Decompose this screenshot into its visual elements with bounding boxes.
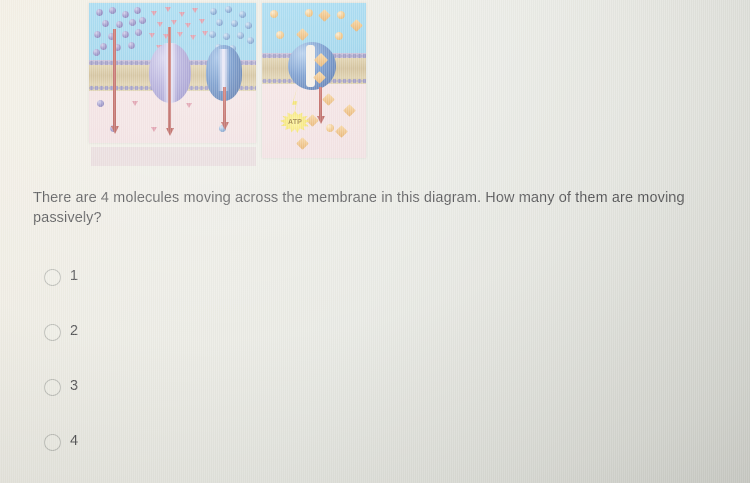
option-label-2: 2 xyxy=(70,323,78,340)
active-transport-panel: ATP xyxy=(262,3,366,158)
diffusion-arrow-channel xyxy=(168,27,171,129)
answer-options-list: 1 2 3 4 xyxy=(44,268,344,483)
diffusion-arrow-gated xyxy=(223,87,226,123)
option-label-3: 3 xyxy=(70,378,78,395)
pump-channel xyxy=(306,45,315,87)
option-2[interactable]: 2 xyxy=(44,323,344,378)
option-label-4: 4 xyxy=(70,433,78,450)
radio-button-2[interactable] xyxy=(44,324,61,341)
option-3[interactable]: 3 xyxy=(44,378,344,433)
membrane-transport-diagram: ATP xyxy=(89,3,366,168)
question-text: There are 4 molecules moving across the … xyxy=(33,188,713,228)
radio-button-1[interactable] xyxy=(44,269,61,286)
diffusion-arrow-simple xyxy=(113,29,116,127)
option-1[interactable]: 1 xyxy=(44,268,344,323)
active-transport-arrow xyxy=(319,87,322,117)
figure-caption-strip xyxy=(91,147,256,166)
gated-channel-pore xyxy=(218,49,229,91)
passive-transport-panel xyxy=(89,3,256,143)
option-label-1: 1 xyxy=(70,268,78,285)
radio-button-3[interactable] xyxy=(44,379,61,396)
question-page: ATP There are 4 molecules moving across … xyxy=(0,0,750,483)
atp-label: ATP xyxy=(288,119,302,126)
radio-button-4[interactable] xyxy=(44,434,61,451)
option-4[interactable]: 4 xyxy=(44,433,344,483)
